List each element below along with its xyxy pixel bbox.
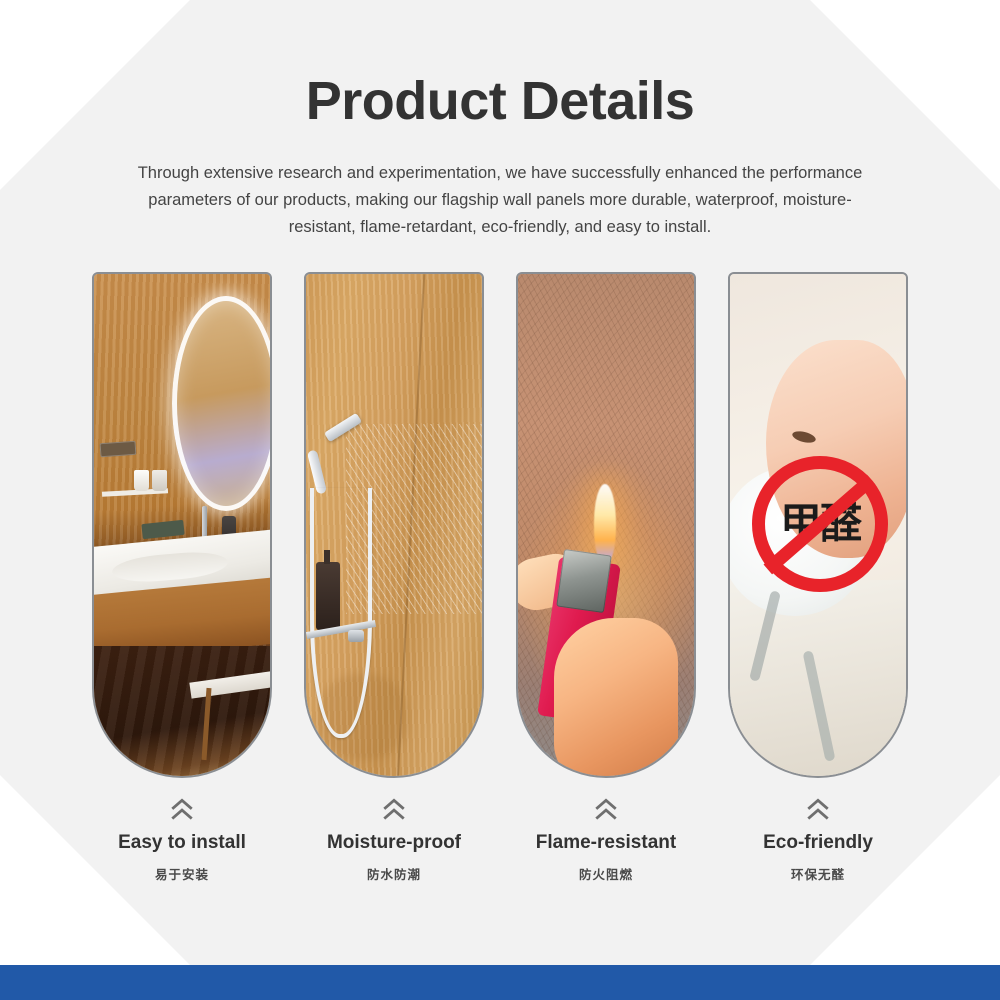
mixer-valve: [348, 630, 364, 642]
cup-left: [134, 470, 149, 491]
feature-photo-eco-friendly[interactable]: 甲醛: [728, 272, 908, 778]
cup-right: [152, 470, 167, 491]
feature-label-en: Flame-resistant: [536, 832, 676, 854]
prohibition-sign: 甲醛: [752, 456, 888, 592]
feature-photo-easy-to-install[interactable]: [92, 272, 272, 778]
feature-label-zh: 易于安装: [155, 864, 209, 883]
feature-photo-moisture-proof[interactable]: [304, 272, 484, 778]
shower-photo: [306, 274, 482, 776]
light-switch-panel: [100, 441, 137, 457]
page-description: Through extensive research and experimen…: [118, 160, 882, 241]
baby-hair: [774, 272, 908, 388]
baby-photo: 甲醛: [730, 274, 906, 776]
double-chevron-up-icon: [169, 796, 195, 822]
feature-label-en: Easy to install: [118, 832, 246, 854]
bottom-accent-bar: [0, 965, 1000, 1000]
feature-label-zh: 防水防潮: [367, 864, 421, 883]
feature-label-en: Eco-friendly: [763, 832, 873, 854]
lighter-metal-hood: [556, 549, 612, 613]
page-content: Product Details Through extensive resear…: [0, 0, 1000, 1000]
thumb: [554, 618, 678, 778]
bathroom-photo: [94, 274, 270, 776]
flame-test-photo: [518, 274, 694, 776]
page-title: Product Details: [0, 70, 1000, 132]
feature-card-flame-resistant[interactable]: Flame-resistant 防火阻燃: [516, 272, 696, 883]
wood-floor: [92, 646, 272, 778]
feature-photo-flame-resistant[interactable]: [516, 272, 696, 778]
shampoo-bottle: [316, 562, 340, 630]
double-chevron-up-icon: [805, 796, 831, 822]
feature-card-moisture-proof[interactable]: Moisture-proof 防水防潮: [304, 272, 484, 883]
feature-label-zh: 环保无醛: [791, 864, 845, 883]
double-chevron-up-icon: [381, 796, 407, 822]
feature-label-zh: 防火阻燃: [579, 864, 633, 883]
feature-card-eco-friendly[interactable]: 甲醛 Eco-friendly 环保无醛: [728, 272, 908, 883]
oval-led-mirror: [172, 296, 272, 511]
flame: [594, 484, 616, 562]
feature-label-en: Moisture-proof: [327, 832, 461, 854]
double-chevron-up-icon: [593, 796, 619, 822]
feature-row: Easy to install 易于安装: [92, 272, 908, 883]
vanity-tray: [141, 520, 184, 539]
feature-card-easy-to-install[interactable]: Easy to install 易于安装: [92, 272, 272, 883]
